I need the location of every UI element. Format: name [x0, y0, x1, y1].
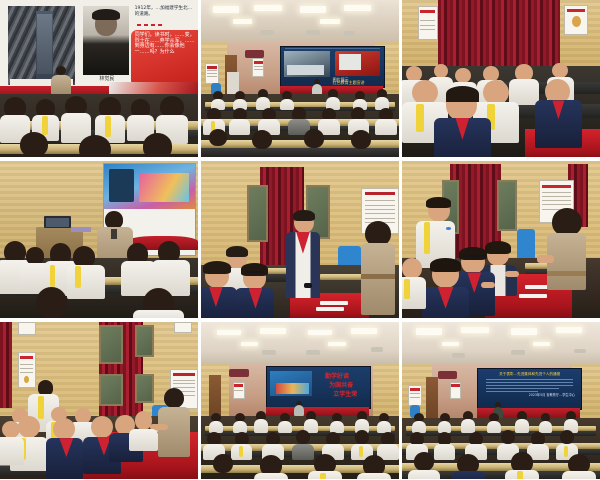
wall-poster [418, 6, 438, 39]
wall-picture-frame [99, 374, 123, 406]
collage-tile-6[interactable]: Students raising hands at a red-draped t… [402, 161, 600, 318]
table-paper [519, 294, 547, 298]
wall-poster [450, 382, 462, 400]
teacher-head [365, 221, 391, 246]
speaker-head [105, 211, 123, 228]
teacher-head [552, 208, 582, 236]
wall-poster [18, 352, 36, 389]
wall-poster [564, 5, 588, 35]
projector-icon [371, 347, 383, 352]
collage-tile-4[interactable]: Female speaker at the front beside a pod… [0, 161, 198, 318]
collage-tile-9[interactable]: 关于表彰…先进集体和先进个人的通报 2023年5月 省教育厅…学生中心 [402, 322, 600, 479]
collage-tile-2[interactable]: 图片展示 红色教育主题宣讲 [201, 0, 399, 157]
projector-icon [452, 353, 466, 358]
wall-picture-frame [135, 374, 155, 403]
table-paper [320, 301, 348, 305]
side-door [426, 377, 438, 418]
led-screen: 勤学好读 为国共奋 立学生荣 [266, 366, 371, 409]
wall-poster [408, 385, 422, 406]
collage-tile-5[interactable]: Standing student answering a question wh… [201, 161, 399, 318]
slogan-line-1: 勤学好读 [325, 373, 349, 381]
wall-poster [205, 63, 219, 84]
wall-poster [233, 382, 245, 400]
wall-picture-frame [247, 185, 269, 242]
projector-icon [344, 31, 356, 36]
slogan-line-3: 立学生荣 [333, 391, 357, 399]
led-screen: 关于表彰…先进集体和先进个人的通报 2023年5月 省教育厅…学生中心 [477, 368, 582, 411]
side-door [209, 375, 221, 416]
wall-poster [174, 322, 192, 333]
collage-tile-8[interactable]: 勤学好读 为国共奋 立学生荣 [201, 322, 399, 479]
teacher-body [51, 75, 71, 95]
screen-slide-body: 红色教育主题宣讲 [333, 81, 382, 86]
wall-poster [252, 58, 264, 77]
projector-icon [306, 350, 320, 355]
projector-icon [306, 30, 320, 35]
slide-question-text: 同学们，读书时，……变，烈士在……弃学从军，……到身边有……你会像他一……吗？为… [135, 33, 196, 56]
table-paper [316, 307, 344, 311]
wall-poster [18, 322, 36, 335]
teacher-body [361, 243, 395, 315]
teacher-head [164, 388, 184, 408]
teacher-body [158, 407, 190, 457]
projector-icon [260, 30, 274, 35]
wall-picture-frame [497, 180, 517, 231]
led-screen: 图片展示 红色教育主题宣讲 [280, 46, 385, 89]
photo-collage: 林觉民 1912年，…加福建学生北…的道路。 同学们，读书时，……变，烈士在……… [0, 0, 600, 480]
wall-picture-frame [99, 325, 123, 364]
slide-title: 关于表彰…先进集体和先进个人的通报 [486, 372, 572, 376]
collage-tile-1[interactable]: 林觉民 1912年，…加福建学生北…的道路。 同学们，读书时，……变，烈士在……… [0, 0, 198, 157]
wall-picture-frame [135, 325, 155, 357]
slide-signature: 2023年5月 省教育厅…学生中心 [526, 394, 575, 398]
projector-icon [511, 350, 525, 355]
slide-heading: 1912年，…加福建学生北…的道路。 [135, 6, 196, 17]
projector-icon [574, 349, 586, 354]
collage-tile-3[interactable]: Close-up of students in white and navy u… [402, 0, 600, 157]
projector-icon [262, 350, 276, 355]
collage-tile-7[interactable]: Teacher walking along the red table hand… [0, 322, 198, 479]
slogan-line-2: 为国共奋 [329, 382, 353, 390]
